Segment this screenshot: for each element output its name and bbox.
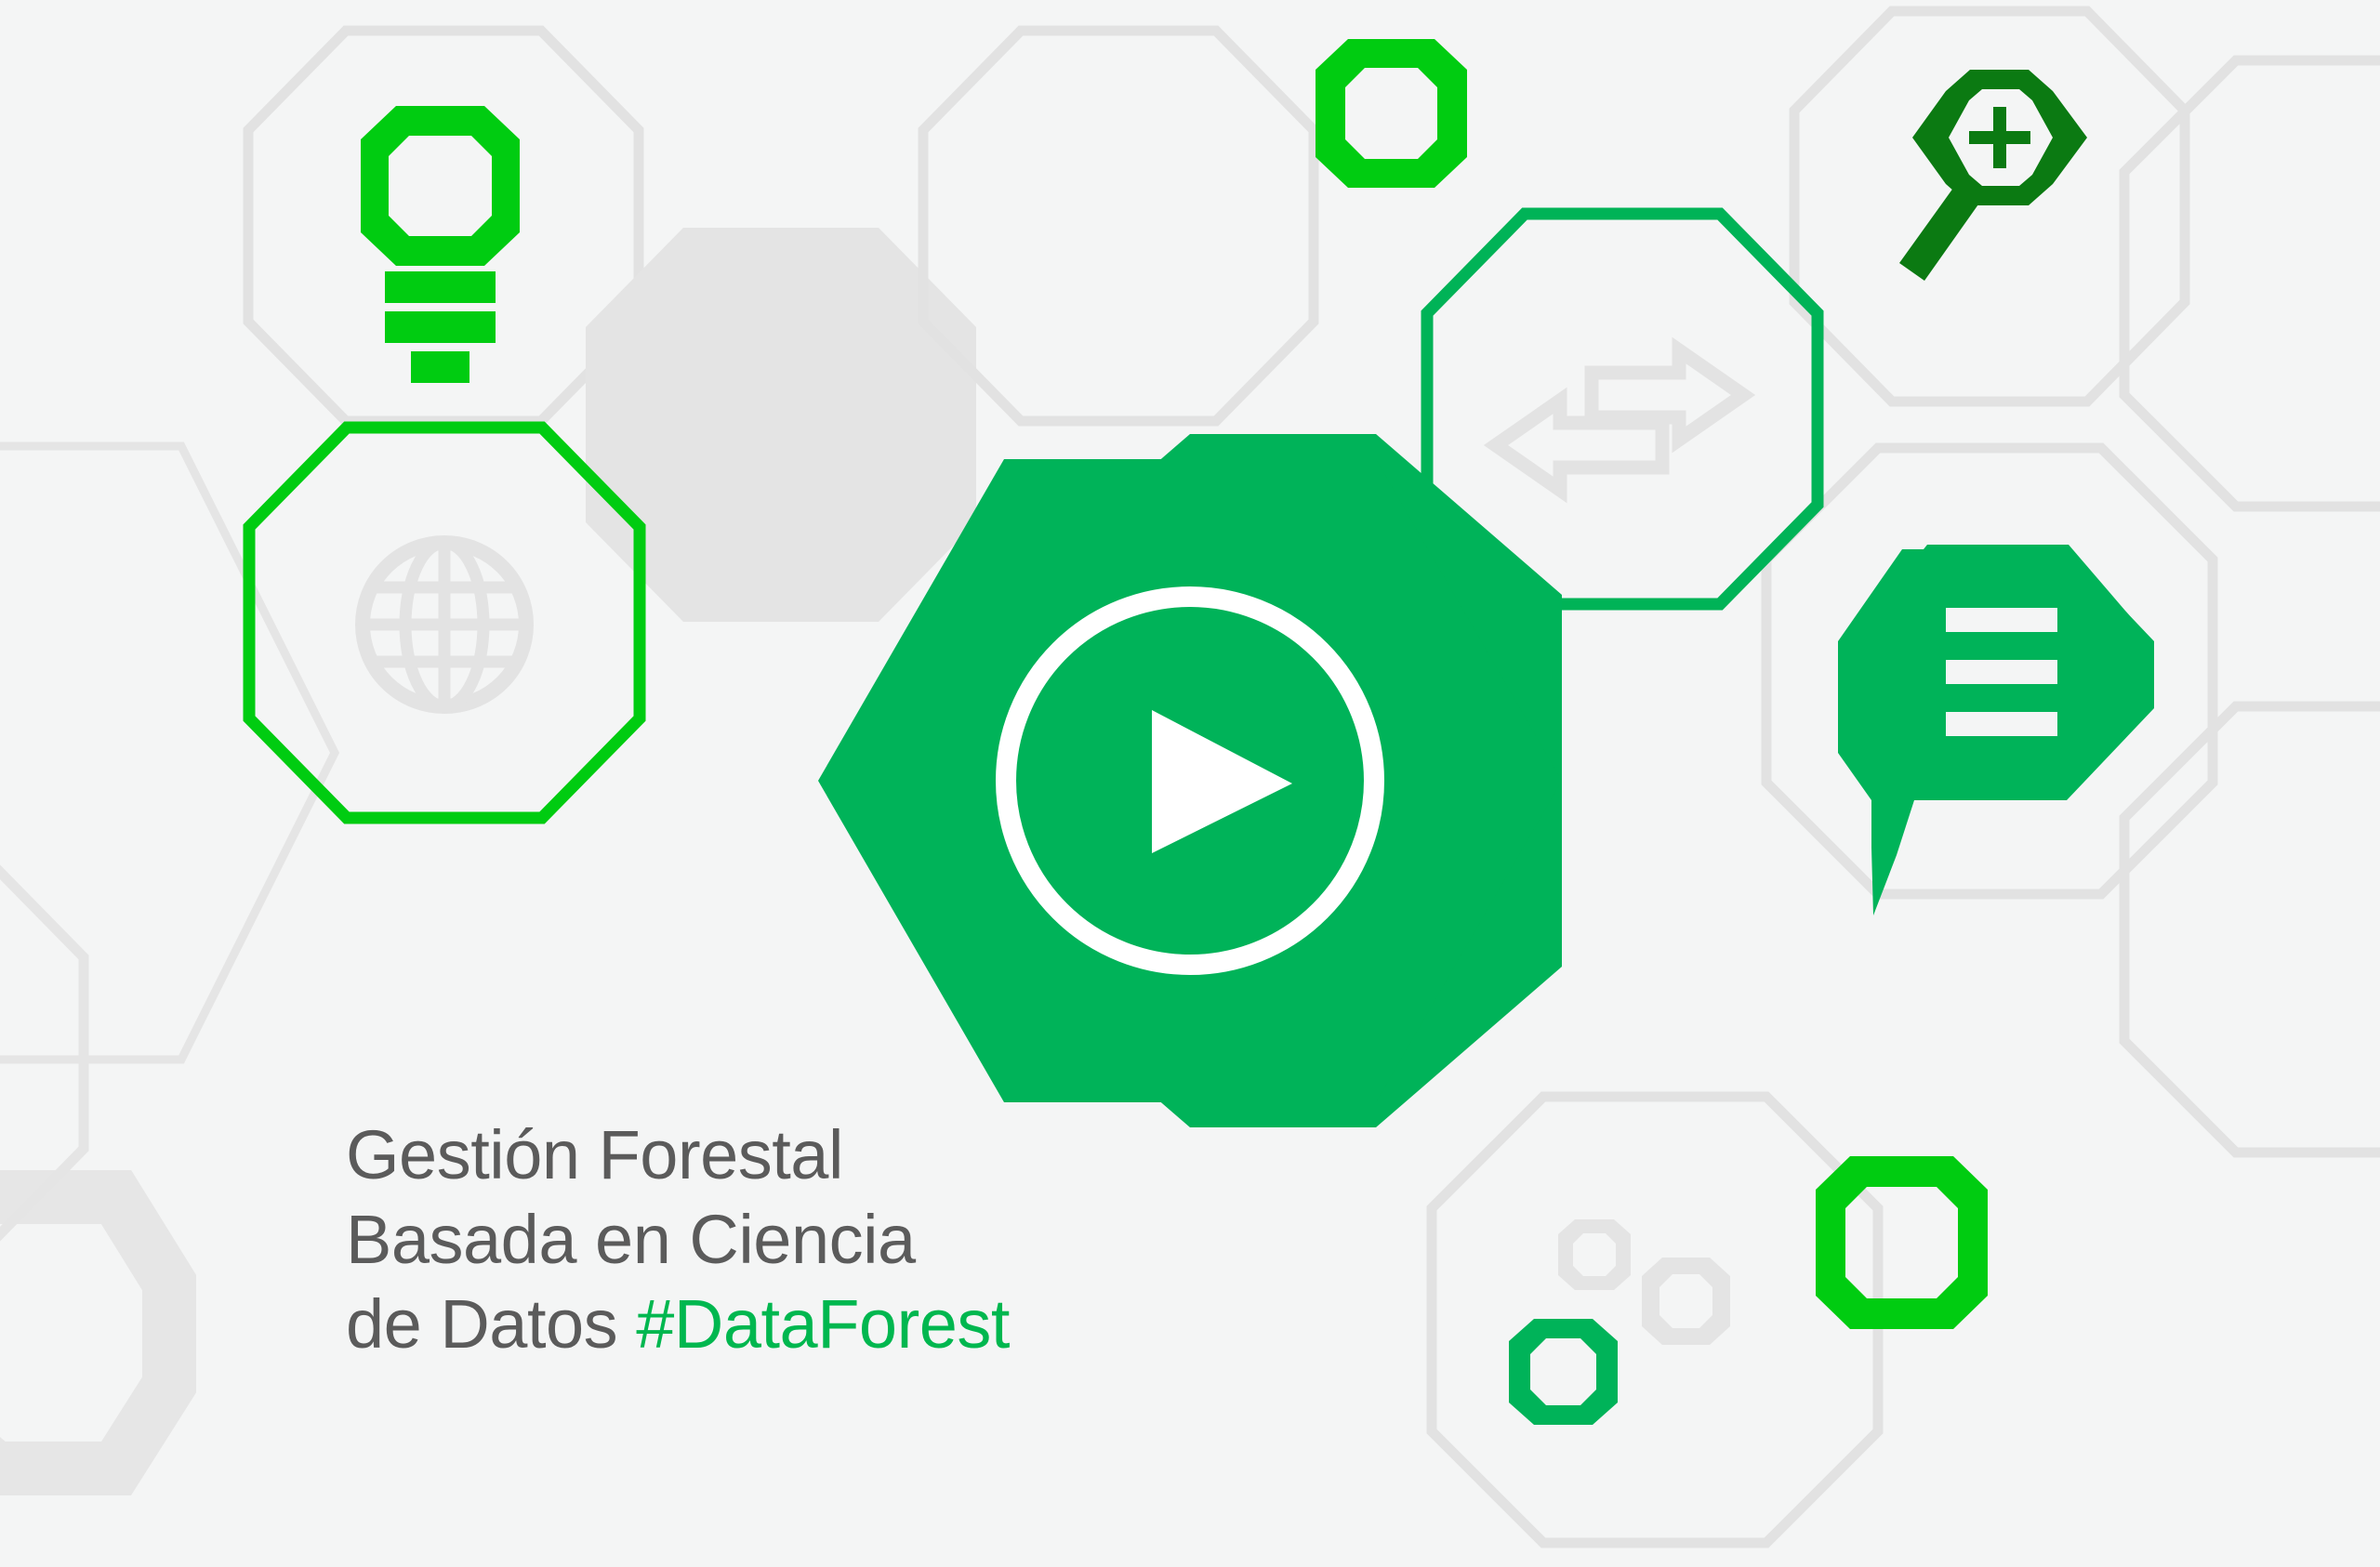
title-line-1: Gestión Forestal xyxy=(346,1113,1368,1197)
title-line-3-prefix: de Datos xyxy=(346,1285,636,1363)
hashtag-dataforest[interactable]: #DataForest xyxy=(636,1285,1010,1363)
title-line-2: Basada en Ciencia xyxy=(346,1197,1368,1282)
title-line-3: de Datos #DataForest xyxy=(346,1282,1368,1366)
poster-title: Gestión Forestal Basada en Ciencia de Da… xyxy=(346,1113,1368,1366)
globe-icon xyxy=(363,543,526,706)
poster-canvas: Gestión Forestal Basada en Ciencia de Da… xyxy=(0,0,2380,1567)
